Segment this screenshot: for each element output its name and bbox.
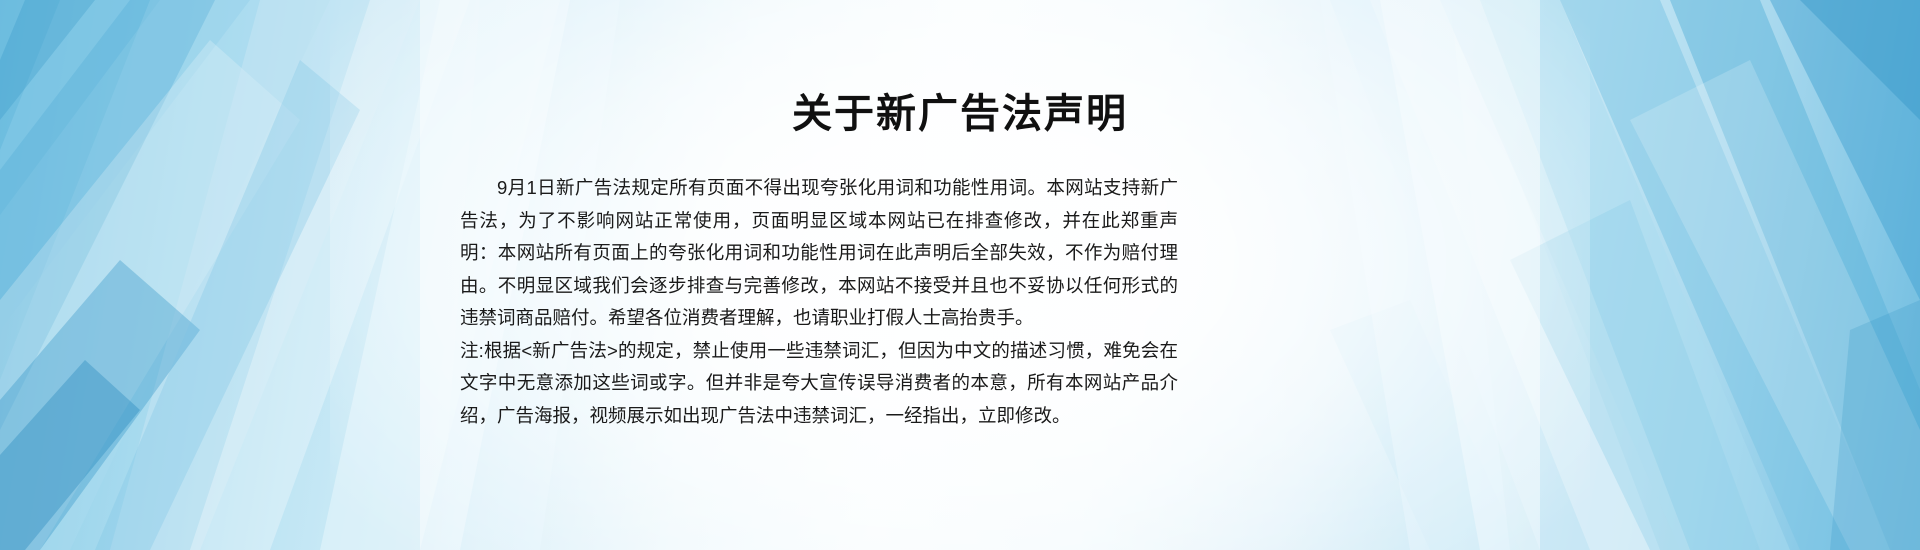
statement-content: 关于新广告法声明 9月1日新广告法规定所有页面不得出现夸张化用词和功能性用词。本… (0, 0, 1920, 550)
statement-paragraph-2: 注:根据<新广告法>的规定，禁止使用一些违禁词汇，但因为中文的描述习惯，难免会在… (460, 335, 1178, 433)
page-title: 关于新广告法声明 (0, 88, 1920, 140)
statement-body: 9月1日新广告法规定所有页面不得出现夸张化用词和功能性用词。本网站支持新广告法，… (460, 172, 1178, 432)
statement-paragraph-1: 9月1日新广告法规定所有页面不得出现夸张化用词和功能性用词。本网站支持新广告法，… (460, 172, 1178, 335)
advertising-law-statement-banner: 关于新广告法声明 9月1日新广告法规定所有页面不得出现夸张化用词和功能性用词。本… (0, 0, 1920, 550)
